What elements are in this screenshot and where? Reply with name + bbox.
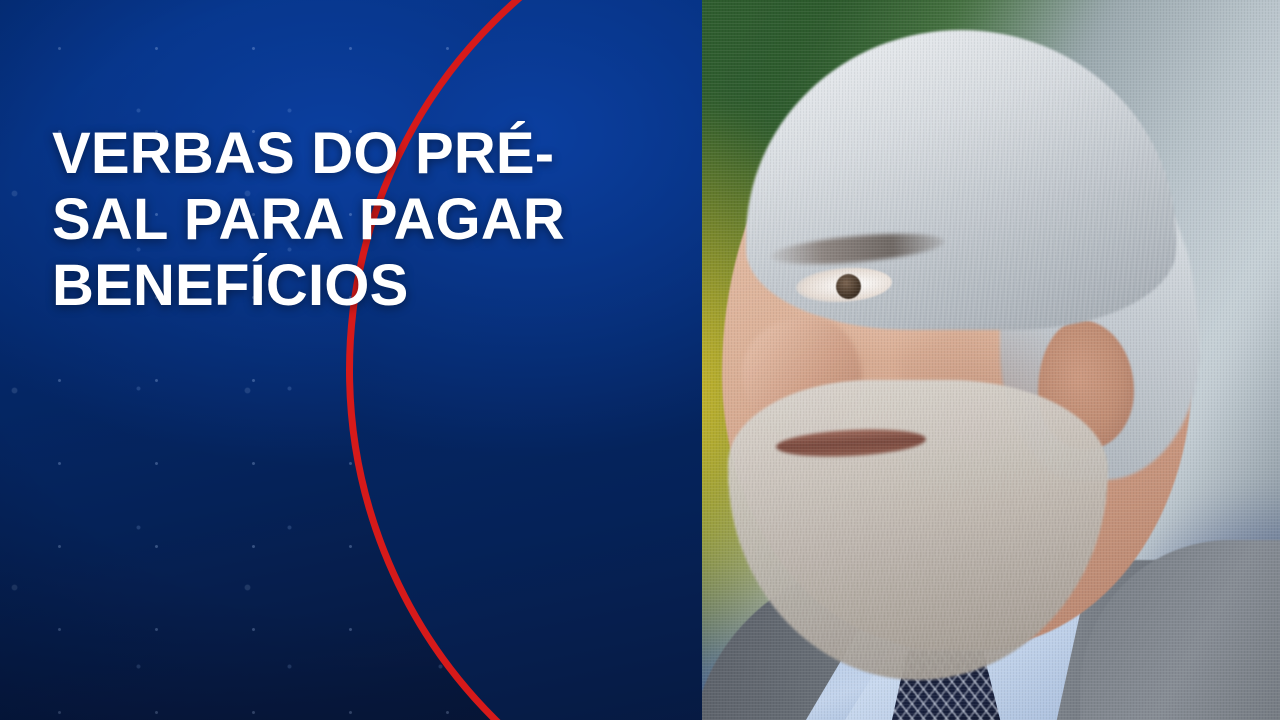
subject-photo (650, 0, 1280, 720)
news-thumbnail-canvas: VERBAS DO PRÉ- SAL PARA PAGAR BENEFÍCIOS… (0, 0, 1280, 720)
headline-line-2: SAL PARA PAGAR (52, 187, 692, 253)
headline-line-1: VERBAS DO PRÉ- (52, 121, 692, 187)
program-logo: OS P NGOS NOS S (34, 404, 534, 674)
headline-line-3: BENEFÍCIOS (52, 253, 692, 319)
photo-grain-overlay (650, 0, 1280, 720)
headline: VERBAS DO PRÉ- SAL PARA PAGAR BENEFÍCIOS (52, 121, 692, 319)
